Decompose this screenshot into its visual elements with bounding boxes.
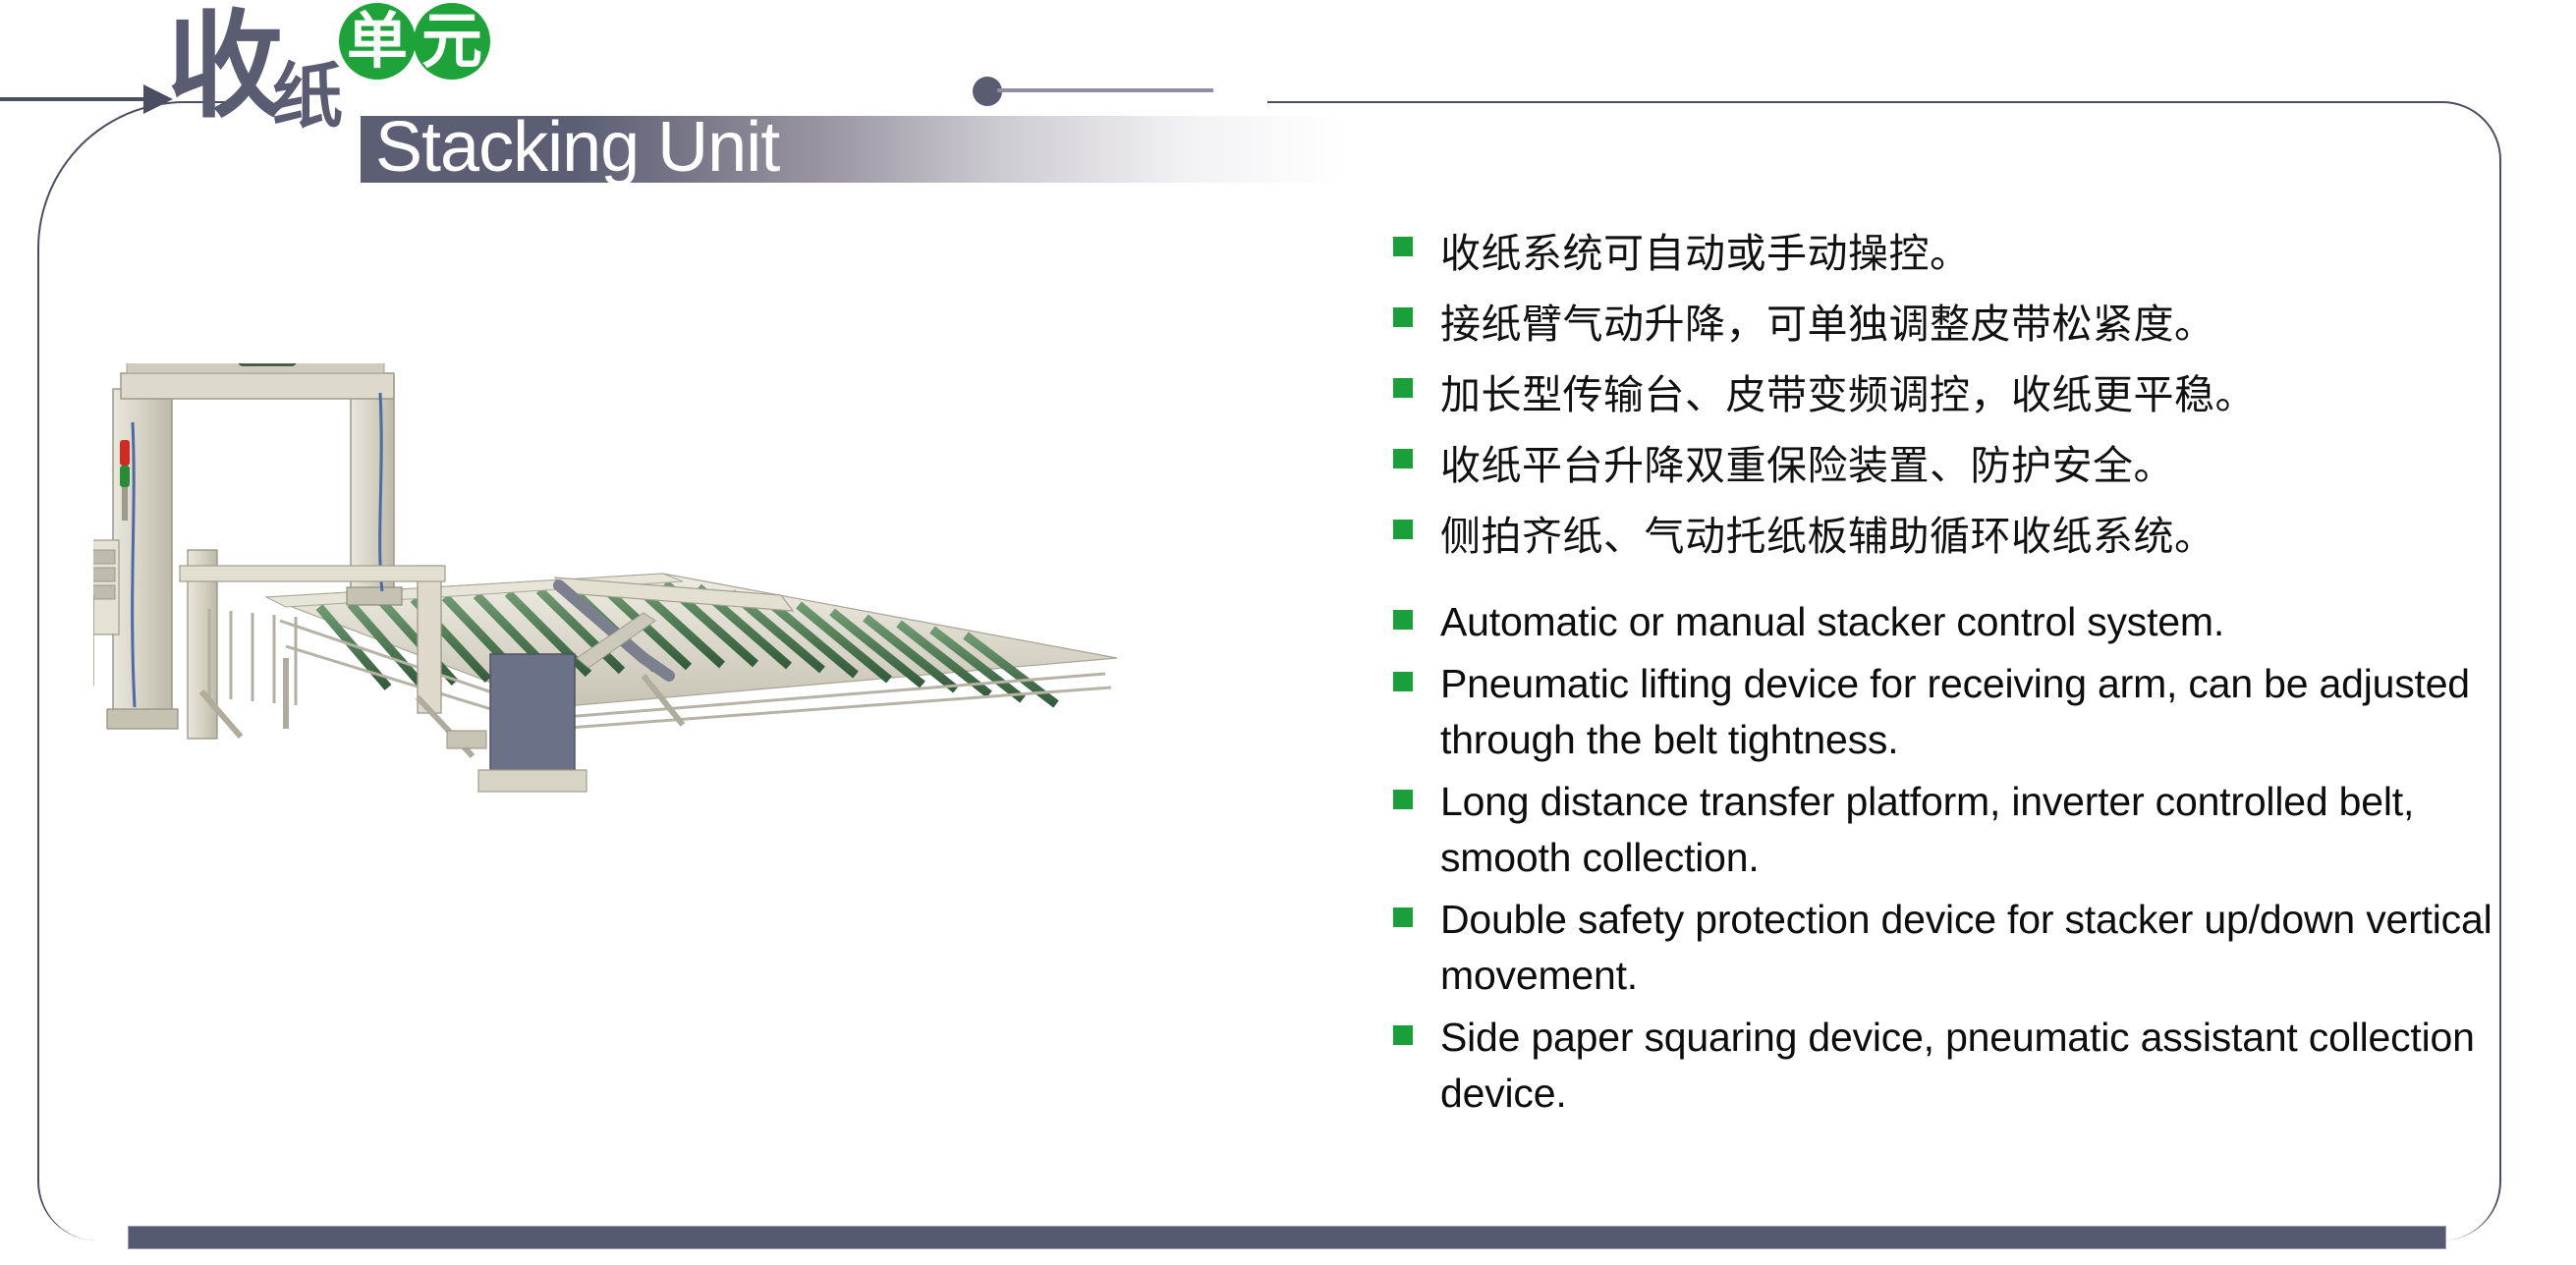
feature-en-text: Double safety protection device for stac…	[1440, 897, 2492, 998]
list-item: 侧拍齐纸、气动托纸板辅助循环收纸系统。	[1393, 504, 2503, 569]
feature-cn-text: 加长型传输台、皮带变频调控，收纸更平稳。	[1440, 371, 2256, 418]
title-cn-main: 收	[167, 8, 283, 124]
feature-cn-text: 接纸臂气动升降，可单独调整皮带松紧度。	[1440, 301, 2215, 348]
list-item: Long distance transfer platform, inverte…	[1393, 774, 2503, 886]
list-item: Double safety protection device for stac…	[1393, 892, 2503, 1004]
poster-page: 收 纸 单 元 Stacking Unit	[0, 0, 2576, 1265]
gantry-tower	[93, 363, 402, 729]
bullet-square-icon	[1393, 790, 1413, 809]
list-item: 加长型传输台、皮带变频调控，收纸更平稳。	[1393, 362, 2503, 427]
bullet-square-icon	[1393, 378, 1413, 398]
features-content: 收纸系统可自动或手动操控。 接纸臂气动升降，可单独调整皮带松紧度。 加长型传输台…	[1393, 221, 2503, 1127]
bullet-square-icon	[1393, 1025, 1413, 1045]
list-item: Automatic or manual stacker control syst…	[1393, 594, 2503, 650]
bullet-square-icon	[1393, 307, 1413, 327]
footer-bar	[128, 1226, 2446, 1249]
stack-light-red	[120, 440, 130, 466]
feature-cn-text: 收纸系统可自动或手动操控。	[1440, 230, 1971, 277]
title-cn-sub: 纸	[272, 61, 343, 132]
bullet-square-icon	[1393, 449, 1413, 468]
bullet-square-icon	[1393, 907, 1413, 927]
bullet-square-icon	[1393, 237, 1413, 256]
title-block: 收 纸 单 元 Stacking Unit	[167, 0, 1248, 196]
list-item: Pneumatic lifting device for receiving a…	[1393, 656, 2503, 768]
feature-cn-text: 侧拍齐纸、气动托纸板辅助循环收纸系统。	[1440, 513, 2215, 560]
features-en-list: Automatic or manual stacker control syst…	[1393, 594, 2503, 1122]
list-item: 接纸臂气动升降，可单独调整皮带松紧度。	[1393, 292, 2503, 357]
leader-line	[0, 97, 147, 101]
feature-cn-text: 收纸平台升降双重保险装置、防护安全。	[1440, 442, 2174, 489]
motor-unit	[239, 363, 296, 365]
badge-circle-1: 单	[339, 3, 416, 80]
decorative-rule	[997, 88, 1213, 92]
machine-photo	[93, 363, 1361, 1041]
control-box	[490, 654, 575, 772]
list-item: 收纸系统可自动或手动操控。	[1393, 221, 2503, 286]
list-item: 收纸平台升降双重保险装置、防护安全。	[1393, 433, 2503, 498]
features-cn-list: 收纸系统可自动或手动操控。 接纸臂气动升降，可单独调整皮带松紧度。 加长型传输台…	[1393, 221, 2503, 569]
badge-circle-2: 元	[414, 3, 490, 80]
feature-en-text: Side paper squaring device, pneumatic as…	[1440, 1015, 2475, 1116]
feature-en-text: Long distance transfer platform, inverte…	[1440, 779, 2414, 880]
title-badge-group: 单 元	[339, 3, 488, 80]
list-item: Side paper squaring device, pneumatic as…	[1393, 1010, 2503, 1122]
bullet-square-icon	[1393, 672, 1413, 691]
stack-light-green	[120, 466, 130, 487]
bullet-square-icon	[1393, 520, 1413, 539]
title-en: Stacking Unit	[375, 108, 779, 187]
feature-en-text: Automatic or manual stacker control syst…	[1440, 599, 2224, 644]
bullet-square-icon	[1393, 610, 1413, 630]
feature-en-text: Pneumatic lifting device for receiving a…	[1440, 661, 2470, 762]
